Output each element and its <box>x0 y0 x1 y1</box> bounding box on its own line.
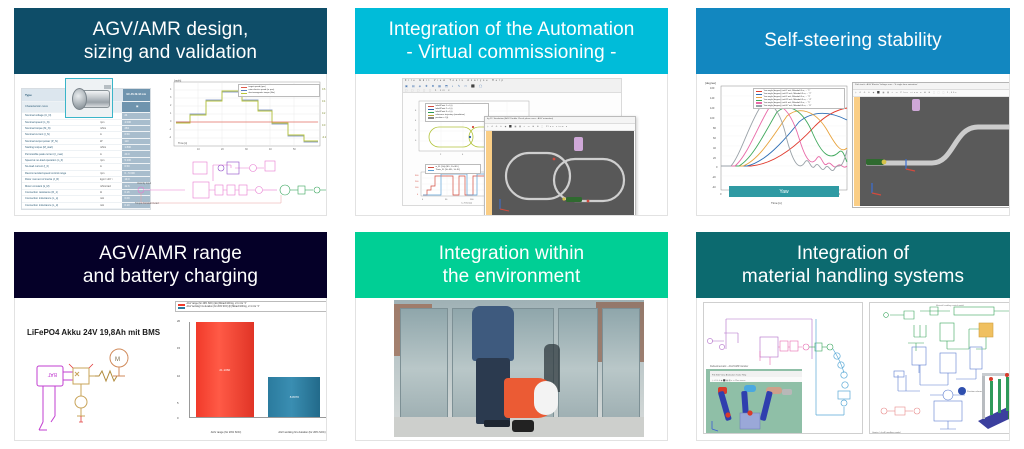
y-tick: 5 <box>177 401 179 405</box>
robot-wheel <box>512 420 534 432</box>
svg-text:-0.2: -0.2 <box>322 136 327 139</box>
bar-category-label: AGV working hrs duration (for 20% SOC) <box>267 431 327 434</box>
yaw-angle-plot: [degree] <box>703 78 853 210</box>
table-row: Connection inductance (L_d)mH0.10 <box>22 203 150 209</box>
bar-plot-area: 21.1060 8.8070 <box>189 322 327 418</box>
card-title-line-2: and battery charging <box>83 265 258 288</box>
svg-text:File Edit View Animation T: File Edit View Animation Tools Help <box>712 373 747 376</box>
card-self-steering-stability[interactable]: Self-steering stability [degree] <box>682 0 1024 224</box>
svg-text:60: 60 <box>713 136 716 140</box>
svg-text:200: 200 <box>415 181 419 183</box>
simulation-animation-window[interactable]: fig 12: Simulation (AGV Double Check pha… <box>484 116 636 216</box>
diagram-input-label-2: Torque Constant Load <box>135 202 159 205</box>
card-title-agv-range-battery: AGV/AMR range and battery charging <box>14 232 327 298</box>
scope-legend: target speed (rpm) rotor electric speed … <box>238 84 320 97</box>
svg-text:4: 4 <box>170 88 172 91</box>
card-title-line-1: Integration of the Automation <box>389 18 635 41</box>
motor-speed-torque-scope: [rad/s] Time [s] 432 10-1 -2 102030 4050… <box>160 78 327 166</box>
svg-text:10: 10 <box>197 148 200 151</box>
card-title-line-1: AGV/AMR design, <box>84 18 257 41</box>
svg-text:4: 4 <box>415 120 417 122</box>
card-title-line-1: Integration of <box>742 242 964 265</box>
svg-text:-2: -2 <box>169 136 172 139</box>
range-duration-bar-chart: AGV range (for 20% SOC) [km] Mload=100 k… <box>163 300 327 436</box>
card-title-line-2: material handling systems <box>742 265 964 288</box>
yaw-plot-xlabel: Time [s] <box>771 201 782 205</box>
curve-icon: ▣ <box>122 102 150 113</box>
steering-sim-toolbar[interactable]: ▷ ⟲ ⟳ ✛ ◉ ⬛ ▦ ⬒ ◐ ▭ Plan view ▾ ⊞ ⊟ ⬚ ⬚ … <box>853 90 1010 97</box>
svg-text:Material handling control mode: Material handling control model <box>936 304 964 307</box>
yaw-plot-legend: Yaw angle [degree] (v=0.2 m/s, Mload=0.3… <box>753 88 845 109</box>
motor-shaft-shape <box>104 85 111 89</box>
svg-text:50: 50 <box>445 199 448 201</box>
card-title-self-steering-stability: Self-steering stability <box>696 8 1010 74</box>
card-title-integration-automation: Integration of the Automation - Virtual … <box>355 8 668 74</box>
bar-agv-range: 21.1060 <box>196 322 254 417</box>
svg-text:0.2: 0.2 <box>322 112 326 115</box>
card-body-material-handling: Delta-kinematic - AGV/AMR transfer File … <box>696 298 1010 441</box>
photo-delivery-robot <box>504 378 560 432</box>
diagram-input-label-1: Velocity input <box>137 182 151 185</box>
svg-text:2: 2 <box>415 130 417 132</box>
delta-robot-model-panel: Delta-kinematic - AGV/AMR transfer File … <box>703 302 863 434</box>
svg-text:4: 4 <box>462 154 464 156</box>
bar-chart-legend: AGV range (for 20% SOC) [km] Mload=100 k… <box>175 301 327 312</box>
tool-menubar[interactable]: File Edit View Tools Analyse Help <box>405 80 505 82</box>
svg-text:2: 2 <box>170 104 172 107</box>
svg-text:▷ ⟲ ⟳ ✛ ◉ ⬛ ▦ ⬒ ◐ ▭ Plan view: ▷ ⟲ ⟳ ✛ ◉ ⬛ ▦ ⬒ ◐ ▭ Plan view ▾ <box>712 379 745 382</box>
svg-text:0.0: 0.0 <box>322 124 326 127</box>
person-torso <box>472 306 514 361</box>
motor-control-block-diagram: Velocity input Torque Constant Load <box>135 160 327 208</box>
environment-photo <box>394 300 644 437</box>
card-body-integration-automation: File Edit View Tools Analyse Help ▣ ▤ ◈ … <box>355 74 668 216</box>
svg-text:0: 0 <box>417 194 419 196</box>
steering-simulation-window[interactable]: Path track - AGV Electric Voltage sens -… <box>852 82 1010 208</box>
robot-white-panel <box>534 381 558 415</box>
svg-text:20: 20 <box>221 148 224 151</box>
yaw-overlay-banner: Yaw <box>729 186 839 197</box>
card-material-handling[interactable]: Integration of material handling systems <box>682 224 1024 449</box>
svg-text:40: 40 <box>713 146 716 150</box>
card-title-line-1: Integration within <box>439 242 584 265</box>
battery-node-label: BAT <box>48 371 57 377</box>
card-body-agv-design-sizing: Type EC-4S 39-43 mm Characteristic curve… <box>14 74 327 216</box>
card-title-line-2: - Virtual commissioning - <box>389 41 635 64</box>
card-grid: AGV/AMR design, sizing and validation Ty… <box>0 0 1024 449</box>
card-title-line-1: Self-steering stability <box>764 29 942 52</box>
svg-text:0: 0 <box>422 199 424 201</box>
svg-text:30: 30 <box>245 148 248 151</box>
svg-text:100: 100 <box>415 187 419 189</box>
motor-face-shape <box>72 88 87 110</box>
svg-text:6: 6 <box>415 110 417 112</box>
steering-sim-3d-view[interactable] <box>860 97 1010 206</box>
left-panel-caption: Delta-kinematic - AGV/AMR transfer <box>710 365 748 368</box>
legend-item: position = f (t) <box>428 117 486 120</box>
card-title-line-1: AGV/AMR range <box>83 242 258 265</box>
table-col-model: EC-4S 39-43 mm <box>123 89 151 101</box>
legend-item: Yaw angle [degree] (v=0.47 m/s, Mload=0.… <box>756 105 842 108</box>
yaw-plot-ylabel: [degree] <box>705 81 716 85</box>
y-tick: 0 <box>177 416 179 420</box>
y-tick: 20 <box>177 319 180 323</box>
right-panel-caption: Gantry / shelf handling model <box>872 431 901 434</box>
svg-text:-20: -20 <box>712 175 716 179</box>
card-agv-range-battery[interactable]: AGV/AMR range and battery charging LiFeP… <box>0 224 341 449</box>
slide-canvas: AGV/AMR design, sizing and validation Ty… <box>0 0 1024 449</box>
legend-item: Theta_FL [1/s 0FL, 1/s FL] <box>428 169 478 172</box>
svg-text:0: 0 <box>415 140 417 142</box>
card-title-agv-design-sizing: AGV/AMR design, sizing and validation <box>14 8 327 74</box>
toolbar-icons-row2[interactable]: ⬚ ⬚ ⬚ ⬚ ⬚ 1 cm ▾ <box>405 89 451 92</box>
battery-circuit-diagram: BAT <box>23 342 158 434</box>
legend-item: electromagnetic torque (Nm) <box>241 92 317 95</box>
card-body-integration-environment <box>355 298 668 441</box>
battery-spec-label: LiFePO4 Akku 24V 19,8Ah mit BMS <box>27 328 160 337</box>
svg-text:40: 40 <box>269 148 272 151</box>
bar-value-label: 21.1060 <box>219 368 230 372</box>
svg-text:100: 100 <box>710 116 715 120</box>
bar-agv-working-duration: 8.8070 <box>268 377 320 417</box>
svg-text:300: 300 <box>415 175 419 177</box>
scope-xlabel: Time [s] <box>178 141 187 145</box>
card-body-self-steering-stability: [degree] <box>696 74 1010 216</box>
simulation-3d-view[interactable] <box>492 131 634 216</box>
svg-text:3: 3 <box>170 96 172 99</box>
card-agv-design-sizing[interactable]: AGV/AMR design, sizing and validation Ty… <box>0 0 341 224</box>
legend-item: AGV working hrs duration (for 20% SOC) [… <box>178 306 327 309</box>
simulation-window-title: fig 12: Simulation (AGV Double Check pha… <box>485 117 635 124</box>
svg-text:100: 100 <box>470 199 474 201</box>
svg-text:120: 120 <box>710 106 715 110</box>
svg-text:1: 1 <box>170 112 172 115</box>
card-title-line-2: sizing and validation <box>84 41 257 64</box>
card-title-integration-environment: Integration within the environment <box>355 232 668 298</box>
bar-category-label: AGV range (for 20% SOC) <box>191 431 261 434</box>
photo-glass-panel <box>558 308 598 419</box>
svg-text:0.4: 0.4 <box>322 100 326 103</box>
simulation-toolbar[interactable]: ▷ ⟲ ⟳ ✛ ◉ ⬛ ▦ ⬒ ◐ ▭ ⊞ ⊟ ⬚ Plan view ▾ <box>485 124 635 131</box>
signal-plot-xlabel: t = Time [s] <box>461 202 472 205</box>
y-tick: 10 <box>177 374 180 378</box>
trajectory-legend: label/Point 1 = f (t) label/Point 2 = f … <box>425 103 489 122</box>
tool-toolbar[interactable]: File Edit View Tools Analyse Help ▣ ▤ ◈ … <box>403 79 621 93</box>
photo-glass-panel <box>602 308 640 419</box>
y-tick: 15 <box>177 346 180 350</box>
svg-text:0: 0 <box>170 120 172 123</box>
steering-sim-title: Path track - AGV Electric Voltage sens -… <box>853 83 1010 90</box>
card-title-material-handling: Integration of material handling systems <box>696 232 1010 298</box>
svg-text:140: 140 <box>710 96 715 100</box>
card-body-agv-range-battery: LiFePO4 Akku 24V 19,8Ah mit BMS BAT <box>14 298 327 441</box>
signal-legend: w_FL [1/s] (0FL, 1/s 0FL) Theta_FL [1/s … <box>425 164 481 174</box>
toolbar-icons[interactable]: ▣ ▤ ◈ ✚ ✖ ▦ ⬒ ◐ ✎ ▭ ⬛ ◯ <box>405 84 484 88</box>
card-title-line-2: the environment <box>439 265 584 288</box>
svg-text:-1: -1 <box>169 128 172 131</box>
svg-text:50: 50 <box>293 148 296 151</box>
motor-photo <box>65 78 113 118</box>
scope-ylabel: [rad/s] <box>174 79 181 83</box>
handling-system-model-panel: Position reference Material handling con… <box>869 302 1010 434</box>
svg-text:20: 20 <box>713 156 716 160</box>
svg-text:0: 0 <box>716 165 718 169</box>
bar-value-label: 8.8070 <box>290 395 299 399</box>
photo-glass-panel <box>400 308 448 419</box>
motor-node-label: M <box>115 357 120 363</box>
card-integration-environment[interactable]: Integration within the environment <box>341 224 682 449</box>
svg-text:-40: -40 <box>712 185 716 189</box>
card-integration-automation[interactable]: Integration of the Automation - Virtual … <box>341 0 682 224</box>
svg-text:0: 0 <box>720 192 722 196</box>
svg-text:80: 80 <box>713 126 716 130</box>
svg-text:2: 2 <box>440 154 442 156</box>
svg-text:160: 160 <box>710 86 715 90</box>
svg-text:0.6: 0.6 <box>322 88 326 91</box>
